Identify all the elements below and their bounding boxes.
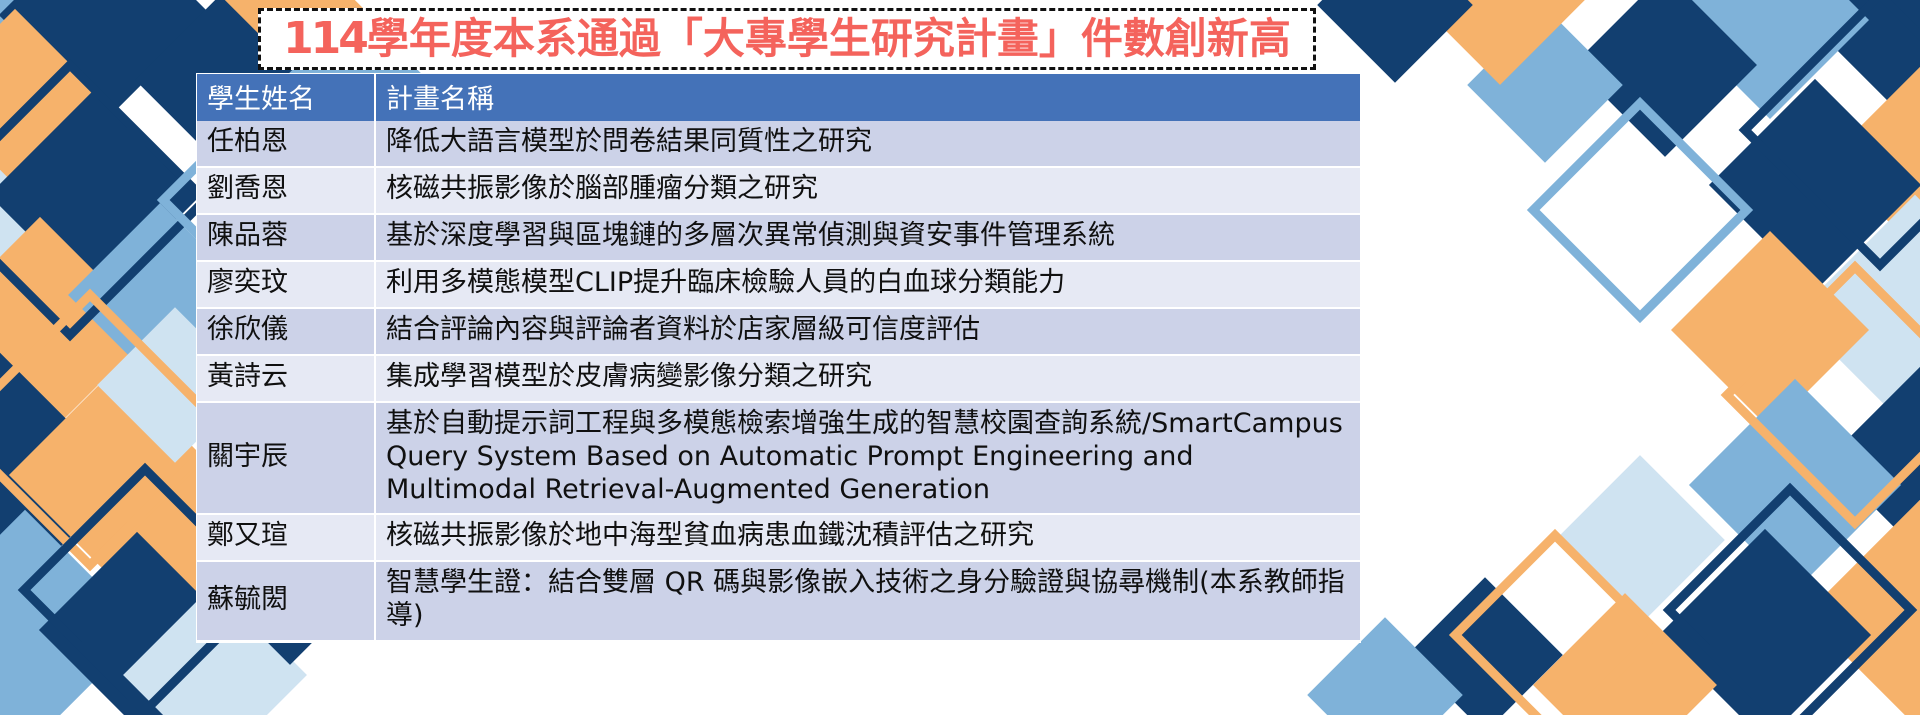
- cell-project-title: 基於自動提示詞工程與多模態檢索增強生成的智慧校園查詢系統/SmartCampus…: [375, 402, 1360, 515]
- cell-student-name: 陳品蓉: [197, 214, 375, 261]
- cell-student-name: 廖奕玟: [197, 261, 375, 308]
- decorative-diamond: [0, 89, 201, 301]
- decorative-diamond: [1533, 593, 1717, 715]
- decorative-diamond: [1671, 231, 1869, 429]
- slide-canvas: 114學年度本系通過「大專學生研究計畫」件數創新高 學生姓名 計畫名稱 任柏恩降…: [0, 0, 1920, 715]
- column-header-student-name: 學生姓名: [197, 74, 375, 121]
- table-row: 陳品蓉基於深度學習與區塊鏈的多層次異常偵測與資安事件管理系統: [197, 214, 1360, 261]
- table-row: 徐欣儀結合評論內容與評論者資料於店家層級可信度評估: [197, 308, 1360, 355]
- decorative-diamond: [1827, 347, 1920, 573]
- cell-student-name: 蘇毓閎: [197, 561, 375, 641]
- decorative-diamond: [1317, 0, 1473, 83]
- decorative-diamond: [1805, 495, 1920, 715]
- table-row: 劉喬恩核磁共振影像於腦部腫瘤分類之研究: [197, 167, 1360, 214]
- decorative-diamond: [1467, 7, 1623, 163]
- decorative-diamond: [1795, 195, 1920, 435]
- decorative-diamond-outline: [0, 59, 211, 342]
- decorative-diamond: [0, 217, 153, 443]
- decorative-diamond: [1415, 0, 1585, 85]
- table-row: 鄭又瑄核磁共振影像於地中海型貧血病患血鐵沈積評估之研究: [197, 514, 1360, 561]
- column-header-project-title: 計畫名稱: [375, 74, 1360, 121]
- table-row: 關宇辰基於自動提示詞工程與多模態檢索增強生成的智慧校園查詢系統/SmartCam…: [197, 402, 1360, 515]
- projects-table: 學生姓名 計畫名稱 任柏恩降低大語言模型於問卷結果同質性之研究劉喬恩核磁共振影像…: [197, 74, 1360, 642]
- decorative-diamond: [1787, 0, 1920, 113]
- decorative-diamond-outline: [1721, 261, 1920, 530]
- decorative-diamond: [0, 135, 85, 375]
- cell-project-title: 核磁共振影像於地中海型貧血病患血鐵沈積評估之研究: [375, 514, 1360, 561]
- title-year-number: 114: [283, 13, 366, 64]
- title-rest-text: 學年度本系通過「大專學生研究計畫」件數創新高: [367, 14, 1291, 63]
- decorative-diamond: [9, 369, 221, 581]
- table-row: 任柏恩降低大語言模型於問卷結果同質性之研究: [197, 121, 1360, 167]
- cell-project-title: 基於深度學習與區塊鏈的多層次異常偵測與資安事件管理系統: [375, 214, 1360, 261]
- cell-student-name: 黃詩云: [197, 355, 375, 402]
- cell-project-title: 利用多模態模型CLIP提升臨床檢驗人員的白血球分類能力: [375, 261, 1360, 308]
- decorative-diamond: [1671, 0, 1869, 119]
- projects-table-container: 學生姓名 計畫名稱 任柏恩降低大語言模型於問卷結果同質性之研究劉喬恩核磁共振影像…: [197, 74, 1360, 642]
- cell-student-name: 任柏恩: [197, 121, 375, 167]
- decorative-diamond: [1573, 0, 1757, 157]
- cell-project-title: 集成學習模型於皮膚病變影像分類之研究: [375, 355, 1360, 402]
- cell-project-title: 智慧學生證：結合雙層 QR 碼與影像嵌入技術之身分驗證與協尋機制(本系教師指導): [375, 561, 1360, 641]
- decorative-diamond-outline: [1449, 529, 1661, 715]
- cell-student-name: 鄭又瑄: [197, 514, 375, 561]
- table-row: 蘇毓閎智慧學生證：結合雙層 QR 碼與影像嵌入技術之身分驗證與協尋機制(本系教師…: [197, 561, 1360, 641]
- cell-student-name: 劉喬恩: [197, 167, 375, 214]
- table-body: 任柏恩降低大語言模型於問卷結果同質性之研究劉喬恩核磁共振影像於腦部腫瘤分類之研究…: [197, 121, 1360, 641]
- decorative-diamond: [1659, 529, 1871, 715]
- decorative-diamond-outline: [1527, 97, 1753, 323]
- cell-project-title: 結合評論內容與評論者資料於店家層級可信度評估: [375, 308, 1360, 355]
- decorative-diamond: [1555, 455, 1725, 625]
- decorative-diamond: [1689, 379, 1901, 591]
- decorative-diamond: [0, 510, 145, 715]
- decorative-diamond: [0, 353, 127, 608]
- table-row: 黃詩云集成學習模型於皮膚病變影像分類之研究: [197, 355, 1360, 402]
- decorative-diamond: [0, 0, 211, 121]
- table-row: 廖奕玟利用多模態模型CLIP提升臨床檢驗人員的白血球分類能力: [197, 261, 1360, 308]
- cell-student-name: 徐欣儀: [197, 308, 375, 355]
- cell-project-title: 降低大語言模型於問卷結果同質性之研究: [375, 121, 1360, 167]
- decorative-diamond-outline: [1663, 483, 1918, 715]
- page-title: 114學年度本系通過「大專學生研究計畫」件數創新高: [283, 17, 1291, 61]
- decorative-diamond-outline: [1739, 0, 1920, 271]
- decorative-diamond: [0, 9, 121, 221]
- cell-student-name: 關宇辰: [197, 402, 375, 515]
- decorative-diamond: [1709, 79, 1920, 291]
- decorative-diamond: [1407, 577, 1563, 715]
- decorative-diamond: [1827, 47, 1920, 273]
- slide-title-banner: 114學年度本系通過「大專學生研究計畫」件數創新高: [258, 8, 1316, 70]
- cell-project-title: 核磁共振影像於腦部腫瘤分類之研究: [375, 167, 1360, 214]
- table-header-row: 學生姓名 計畫名稱: [197, 74, 1360, 121]
- decorative-diamond: [0, 0, 111, 101]
